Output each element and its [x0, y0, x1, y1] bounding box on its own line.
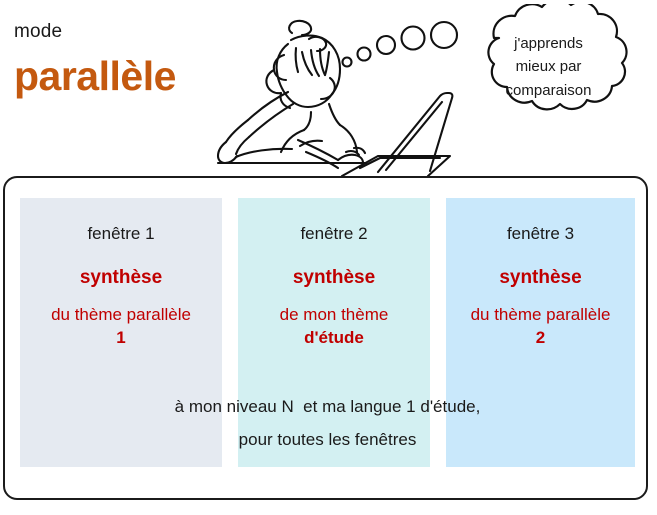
title-block: mode parallèle	[14, 22, 224, 98]
window-column-1[interactable]: fenêtre 1 synthèse du thème parallèle 1	[20, 198, 222, 467]
window-description-text-1: du thème parallèle	[51, 305, 191, 324]
window-description-number-3: 2	[450, 327, 631, 350]
window-description-text-2: de mon thème	[280, 305, 389, 324]
window-heading-3: synthèse	[446, 267, 635, 290]
window-description-text-3: du thème parallèle	[471, 305, 611, 324]
window-description-2: de mon thème d'étude	[238, 304, 430, 350]
windows-panel: fenêtre 1 synthèse du thème parallèle 1 …	[3, 176, 648, 500]
window-description-number-2: d'étude	[242, 327, 426, 350]
window-heading-2: synthèse	[238, 267, 430, 290]
window-description-1: du thème parallèle 1	[20, 304, 222, 350]
window-title-2: fenêtre 2	[238, 224, 430, 244]
window-column-3[interactable]: fenêtre 3 synthèse du thème parallèle 2	[446, 198, 635, 467]
window-title-3: fenêtre 3	[446, 224, 635, 244]
window-column-2[interactable]: fenêtre 2 synthèse de mon thème d'étude	[238, 198, 430, 467]
mode-label: mode	[14, 22, 224, 43]
header-region: mode parallèle	[0, 0, 657, 176]
window-description-number-1: 1	[24, 327, 218, 350]
columns-container: fenêtre 1 synthèse du thème parallèle 1 …	[5, 178, 646, 498]
thought-bubble: j'apprends mieux par comparaison	[446, 4, 651, 130]
page-title: parallèle	[14, 55, 224, 98]
window-title-1: fenêtre 1	[20, 224, 222, 244]
window-description-3: du thème parallèle 2	[446, 304, 635, 350]
window-heading-1: synthèse	[20, 267, 222, 290]
